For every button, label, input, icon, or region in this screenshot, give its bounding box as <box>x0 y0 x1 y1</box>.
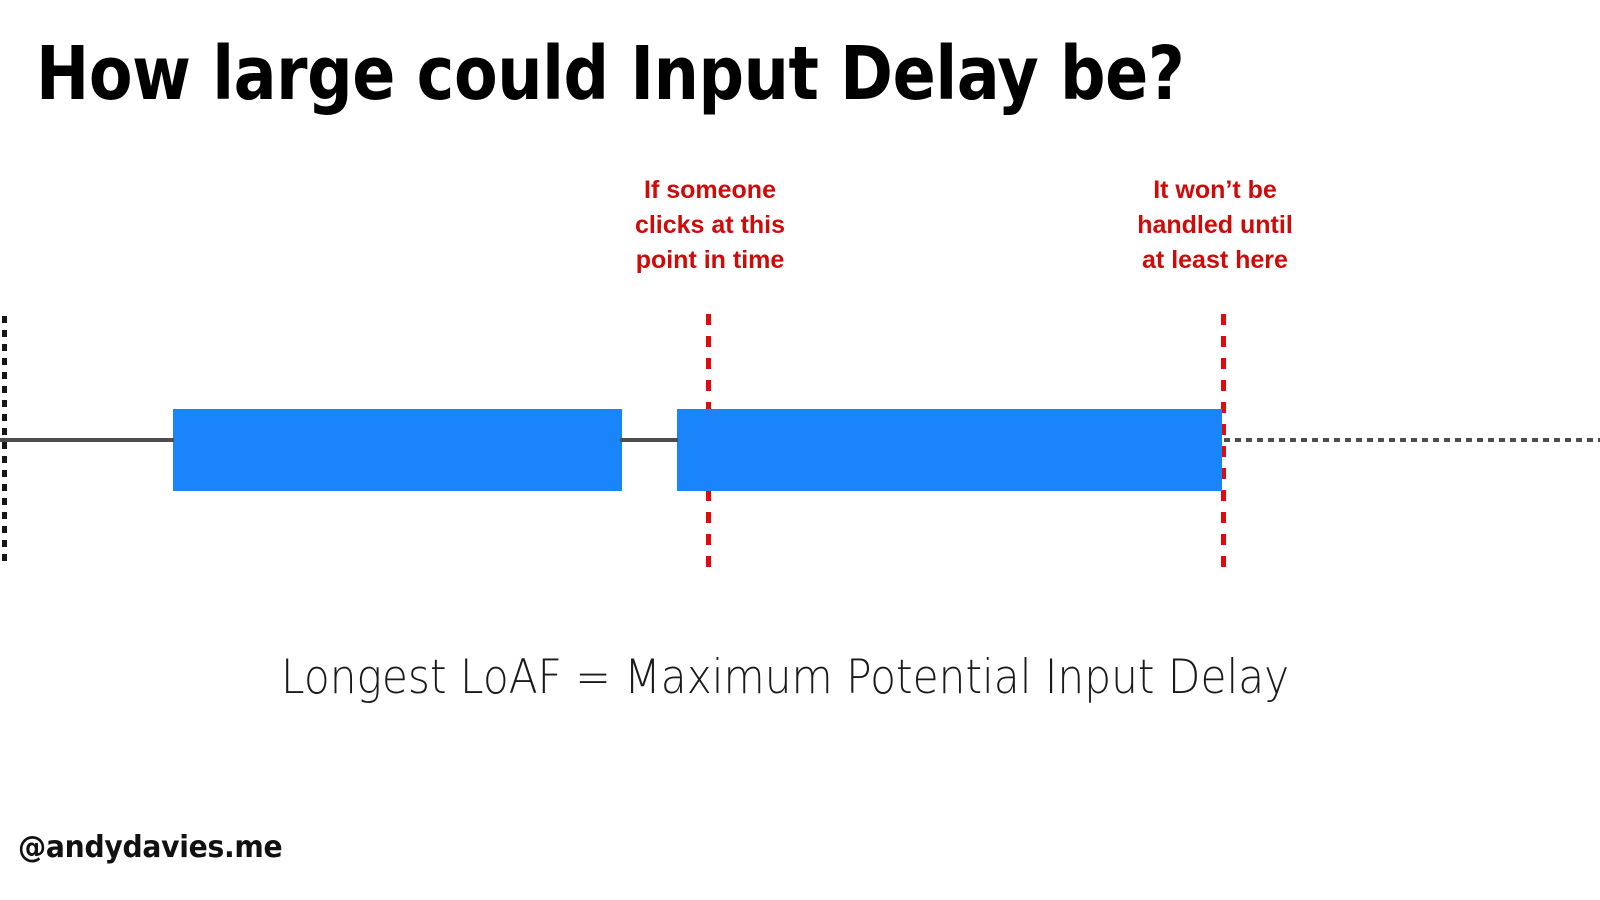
slide-canvas: How large could Input Delay be? If someo… <box>0 0 1600 900</box>
timeline-start-marker-line <box>2 316 7 568</box>
loaf-bar-1 <box>173 409 622 491</box>
timeline-axis-segment-left <box>0 438 174 442</box>
loaf-bar-2 <box>677 409 1222 491</box>
timeline-axis-segment-dotted-right <box>1224 438 1600 442</box>
annotation-handled-point: It won’t be handled until at least here <box>1090 173 1340 278</box>
footer-author-handle: @andydavies.me <box>18 829 282 867</box>
input-delay-timeline-diagram <box>0 0 1600 900</box>
diagram-caption-text: Longest LoAF = Maximum Potential Input D… <box>281 648 1289 708</box>
annotation-click-point: If someone clicks at this point in time <box>585 173 835 278</box>
diagram-caption: Longest LoAF = Maximum Potential Input D… <box>0 648 1570 708</box>
timeline-axis-segment-middle <box>620 438 678 442</box>
